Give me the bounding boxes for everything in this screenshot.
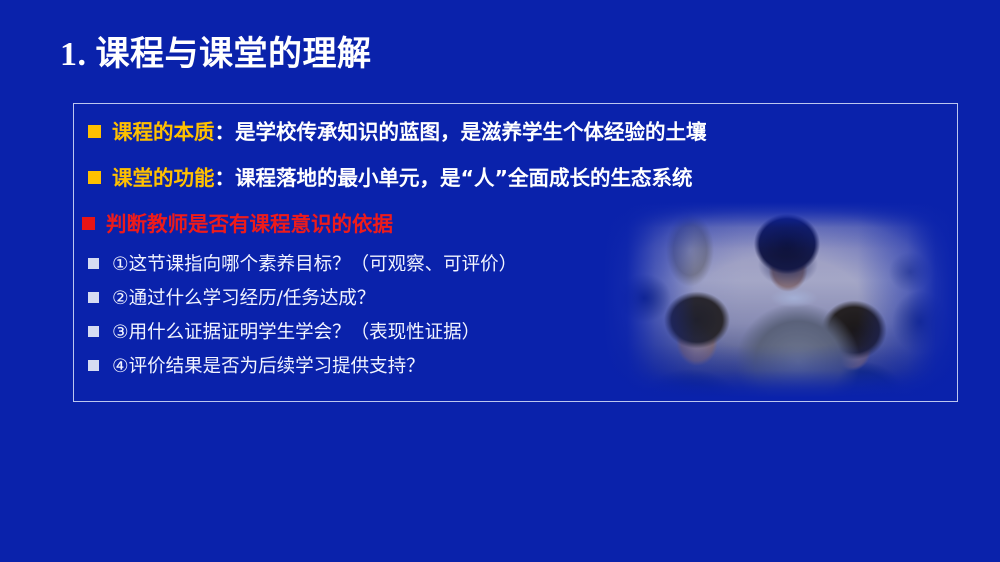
classroom-photo — [602, 202, 957, 398]
square-bullet-pale-icon — [88, 258, 99, 269]
page-title: 1. 课程与课堂的理解 — [60, 36, 372, 73]
sub-bullet-text-4: ④评价结果是否为后续学习提供支持？ — [112, 358, 425, 377]
bullet-line-criteria-heading: 判断教师是否有课程意识的依据 — [82, 214, 393, 235]
square-bullet-pale-icon — [88, 326, 99, 337]
square-bullet-pale-icon — [88, 360, 99, 371]
sub-bullet-text-1: ①这节课指向哪个素养目标？（可观察、可评价） — [112, 256, 517, 275]
bullet-text-criteria-heading: 判断教师是否有课程意识的依据 — [106, 214, 393, 235]
sub-bullet-text-2: ②通过什么学习经历/任务达成？ — [112, 290, 375, 309]
bullet-lead-course-essence: 课程的本质 — [112, 120, 215, 144]
bullet-line-course-essence: 课程的本质：是学校传承知识的蓝图，是滋养学生个体经验的土壤 — [88, 122, 707, 143]
sub-bullet-line-4: ④评价结果是否为后续学习提供支持？ — [88, 358, 425, 377]
bullet-text-course-essence: 课程的本质：是学校传承知识的蓝图，是滋养学生个体经验的土壤 — [112, 122, 707, 143]
sub-bullet-line-1: ①这节课指向哪个素养目标？（可观察、可评价） — [88, 256, 517, 275]
square-bullet-gold-icon — [88, 171, 101, 184]
square-bullet-gold-icon — [88, 125, 101, 138]
content-box: 课程的本质：是学校传承知识的蓝图，是滋养学生个体经验的土壤 课堂的功能：课程落地… — [73, 103, 958, 402]
bullet-rest-classroom-function: ：课程落地的最小单元，是“人”全面成长的生态系统 — [215, 166, 693, 190]
square-bullet-red-icon — [82, 217, 95, 230]
bullet-lead-classroom-function: 课堂的功能 — [112, 166, 215, 190]
sub-bullet-text-3: ③用什么证据证明学生学会？（表现性证据） — [112, 324, 480, 343]
bullet-line-classroom-function: 课堂的功能：课程落地的最小单元，是“人”全面成长的生态系统 — [88, 168, 692, 189]
square-bullet-pale-icon — [88, 292, 99, 303]
presentation-slide: 1. 课程与课堂的理解 课程的本质：是学校传承知识的蓝图，是滋养学生个体经验的土… — [0, 0, 1000, 562]
bullet-rest-course-essence: ：是学校传承知识的蓝图，是滋养学生个体经验的土壤 — [215, 120, 707, 144]
content-box-inner: 课程的本质：是学校传承知识的蓝图，是滋养学生个体经验的土壤 课堂的功能：课程落地… — [74, 104, 957, 401]
bullet-text-classroom-function: 课堂的功能：课程落地的最小单元，是“人”全面成长的生态系统 — [112, 168, 692, 189]
classroom-photo-fade-mask — [602, 202, 957, 398]
sub-bullet-line-2: ②通过什么学习经历/任务达成？ — [88, 290, 375, 309]
sub-bullet-line-3: ③用什么证据证明学生学会？（表现性证据） — [88, 324, 480, 343]
